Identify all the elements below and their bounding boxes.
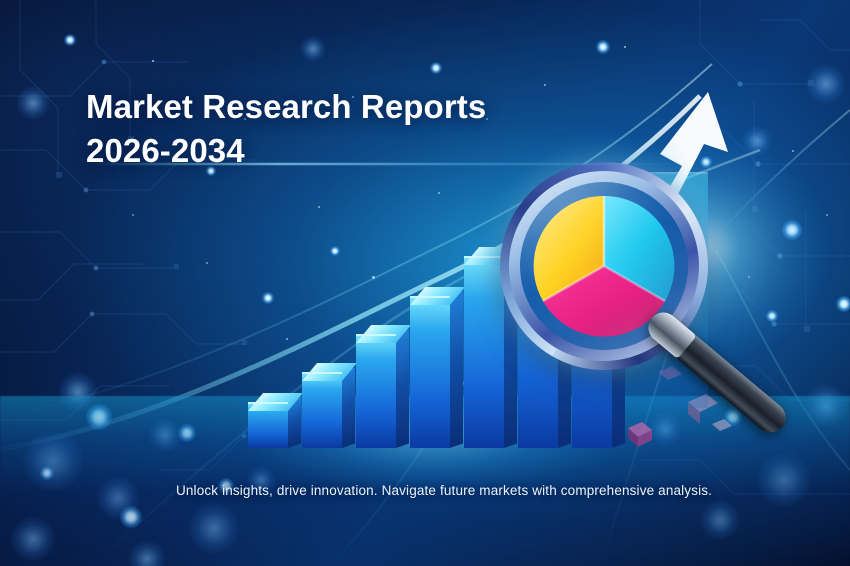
market-research-banner: Market Research Reports 2026-2034 Unlock…: [0, 0, 850, 566]
magnifier-icon: [500, 162, 708, 370]
subtitle-tagline: Unlock insights, drive innovation. Navig…: [176, 483, 712, 498]
title-underline-rule: [86, 163, 686, 165]
page-title: Market Research Reports 2026-2034: [86, 85, 486, 173]
